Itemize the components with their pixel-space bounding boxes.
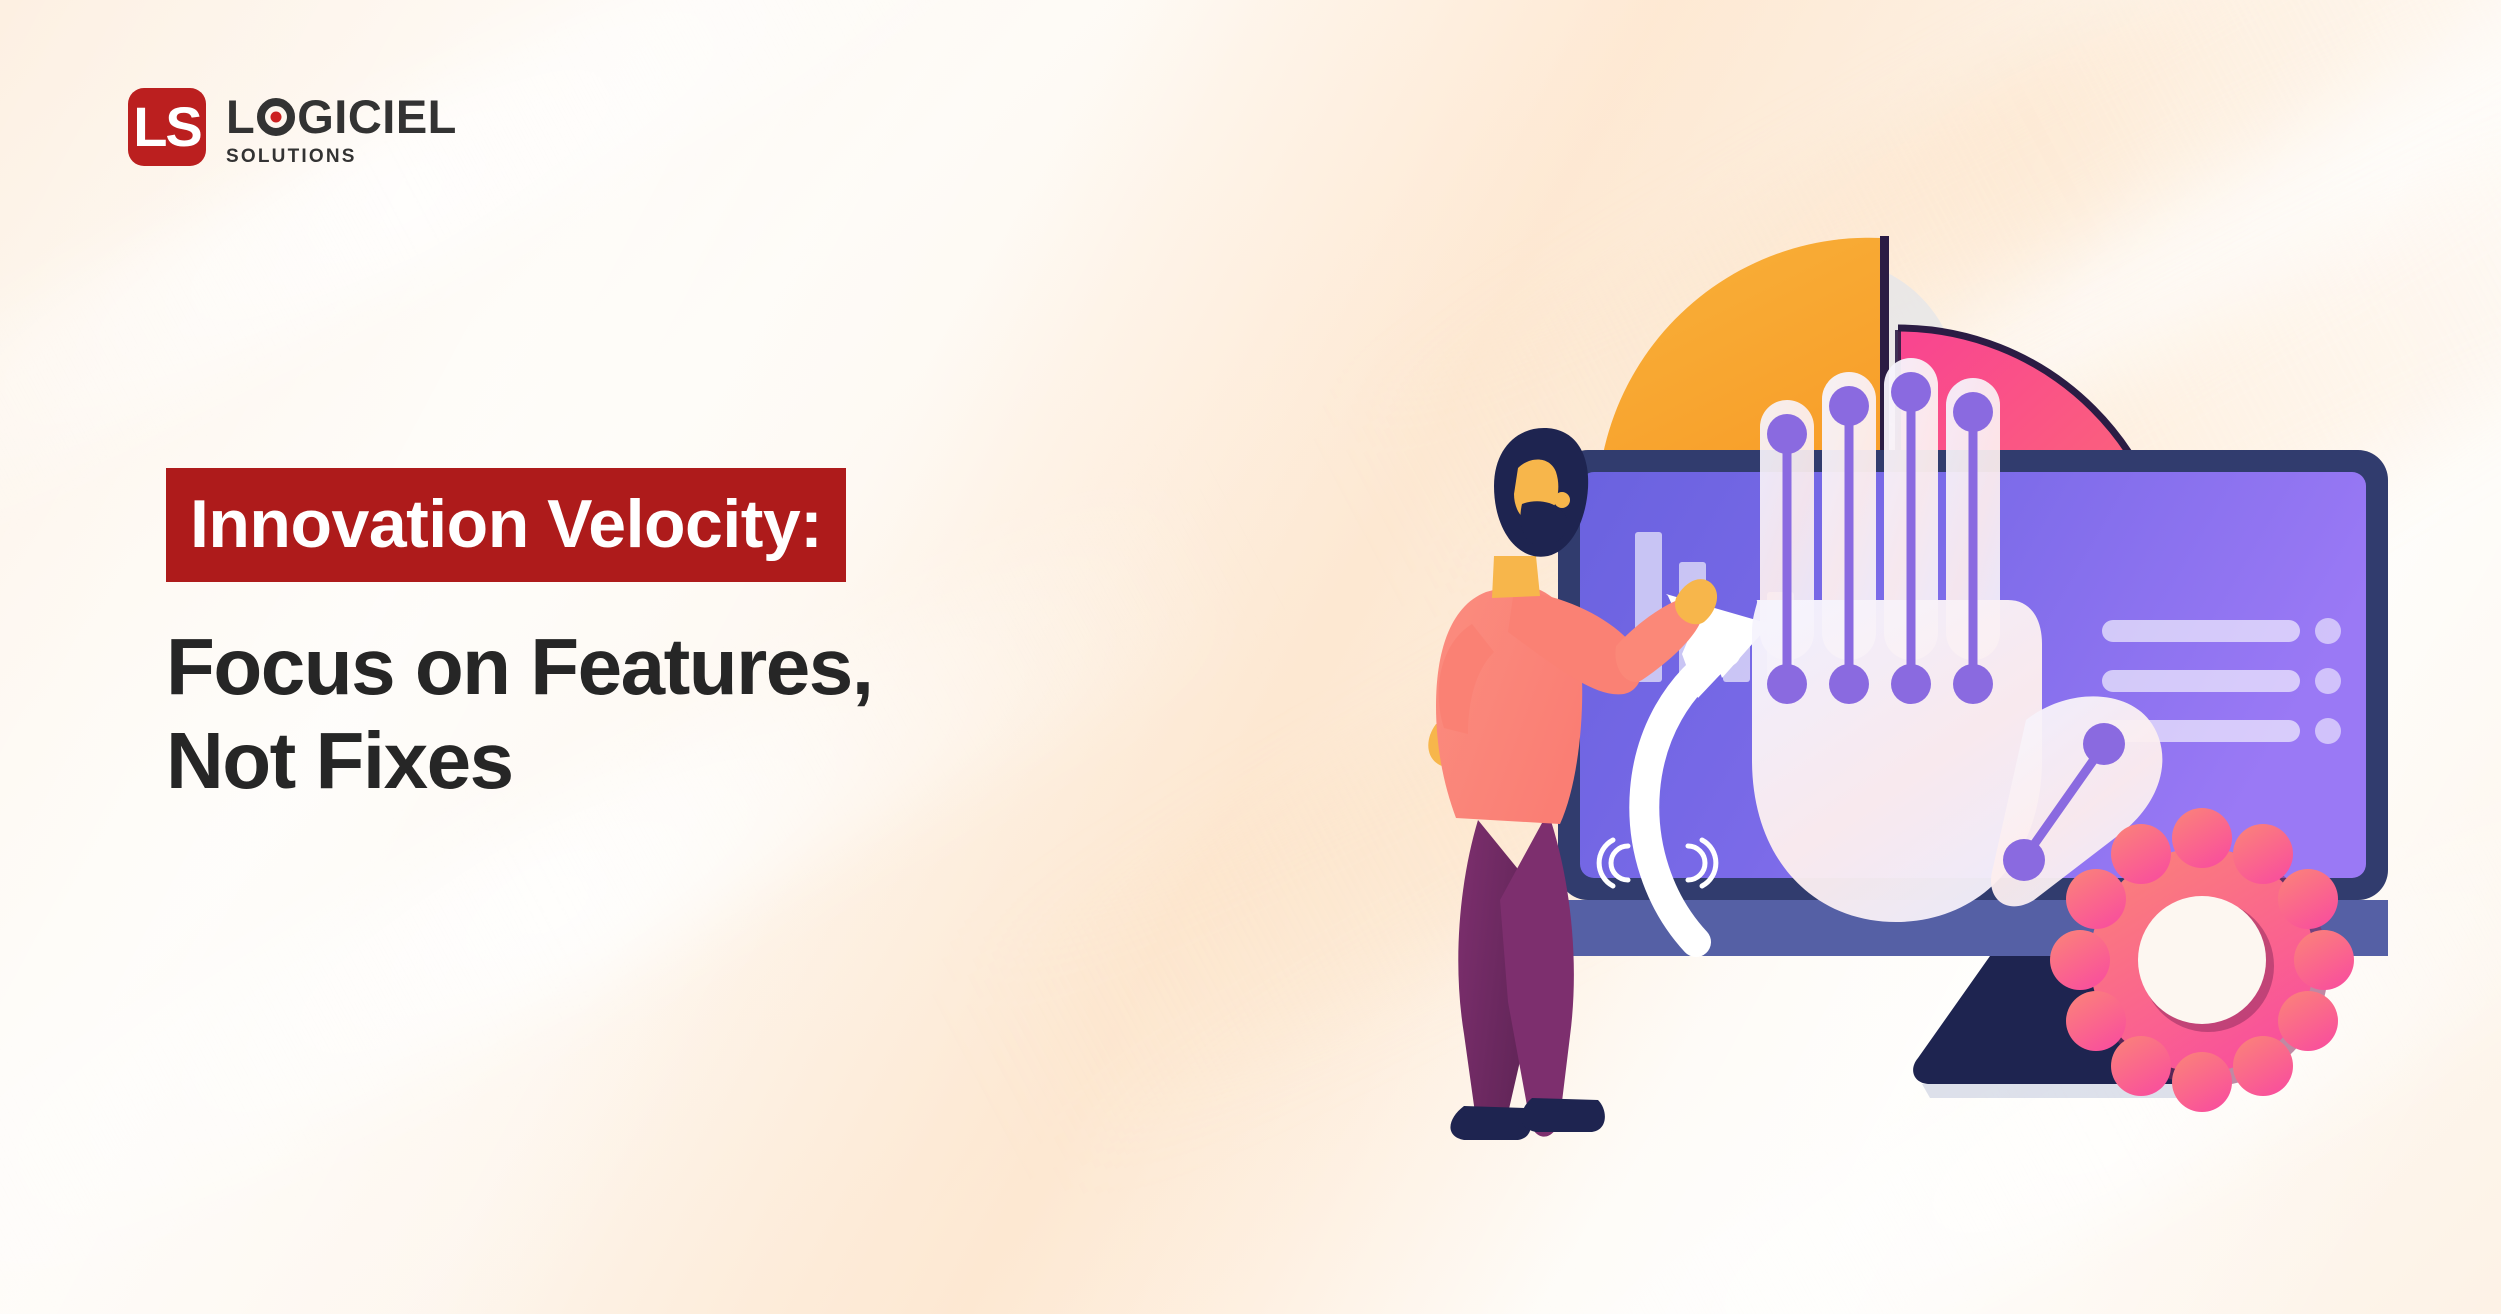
logo-mark-icon: LS xyxy=(128,88,206,166)
logo-wordmark: L GICIEL SOLUTIONS xyxy=(226,88,457,168)
hero-illustration xyxy=(1430,200,2490,1130)
page-title: Focus on Features, Not Fixes xyxy=(166,620,1286,809)
logo-name-part1: L xyxy=(226,93,255,140)
title-line-1: Focus on Features, xyxy=(166,622,872,711)
headline-block: Innovation Velocity: Focus on Features, … xyxy=(166,468,1286,809)
logo-company-name: L GICIEL xyxy=(226,93,457,140)
brand-logo[interactable]: LS L GICIEL SOLUTIONS xyxy=(128,88,457,168)
logo-mark-text: LS xyxy=(128,88,206,166)
person-shoe-left xyxy=(1450,1106,1531,1140)
logo-target-o-icon xyxy=(257,98,295,136)
person-shoe-right xyxy=(1521,1098,1605,1132)
title-line-2: Not Fixes xyxy=(166,714,1286,808)
logo-tagline: SOLUTIONS xyxy=(226,146,457,168)
logo-name-part2: GICIEL xyxy=(297,93,457,140)
eyebrow-badge: Innovation Velocity: xyxy=(166,468,846,582)
